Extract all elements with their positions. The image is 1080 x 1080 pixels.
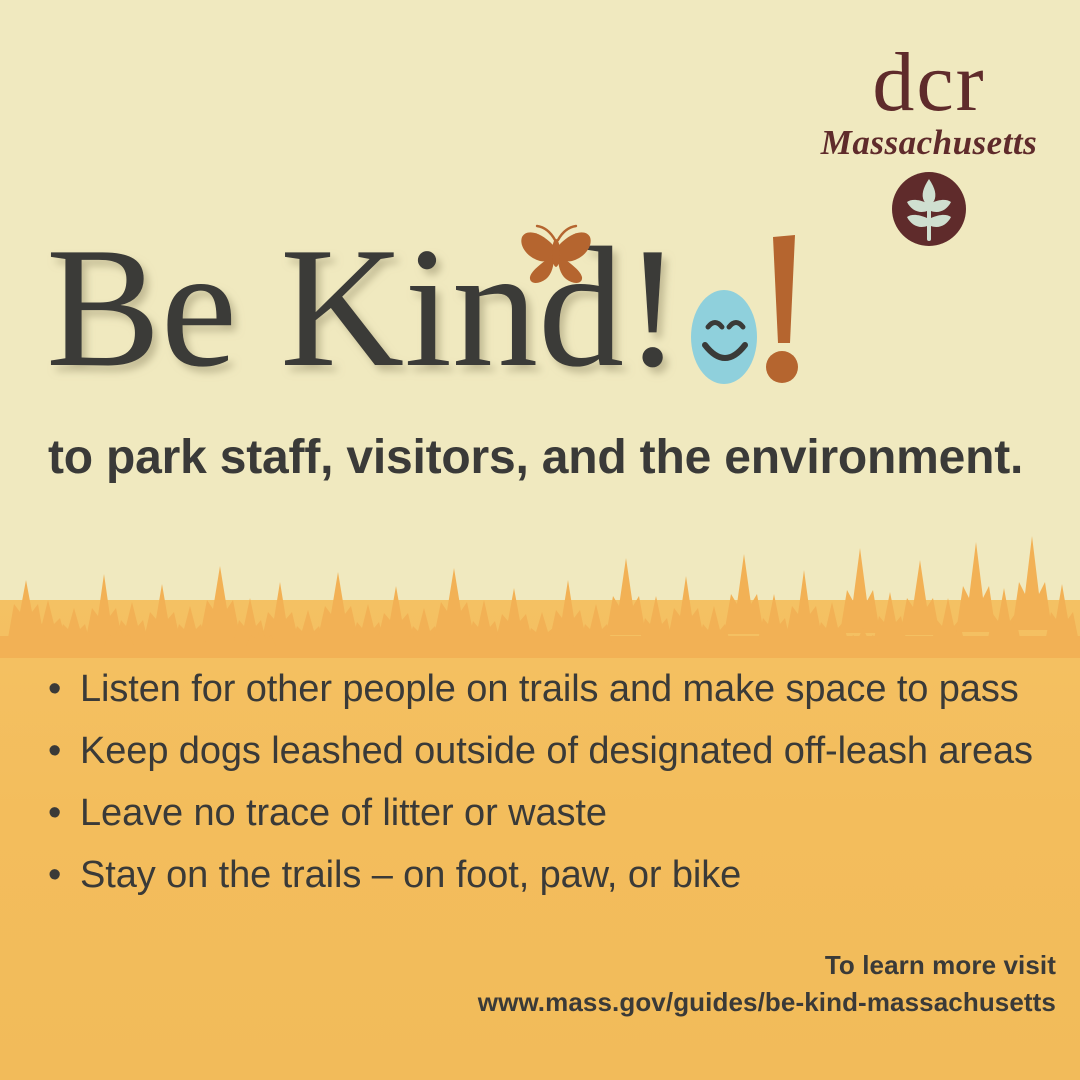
bullet-marker-icon: • (48, 732, 80, 770)
list-item-label: Leave no trace of litter or waste (80, 792, 1048, 835)
footer-prompt: To learn more visit (478, 950, 1056, 981)
subtitle: to park staff, visitors, and the environ… (48, 430, 1048, 485)
list-item: • Listen for other people on trails and … (48, 668, 1048, 730)
dcr-wordmark: dcr (814, 44, 1044, 121)
list-item-label: Listen for other people on trails and ma… (80, 668, 1048, 711)
bullet-marker-icon: • (48, 794, 80, 832)
footer-url[interactable]: www.mass.gov/guides/be-kind-massachusett… (478, 987, 1056, 1018)
footer: To learn more visit www.mass.gov/guides/… (478, 950, 1056, 1018)
list-item: • Leave no trace of litter or waste (48, 792, 1048, 854)
smiley-face-icon (691, 290, 757, 384)
list-item-label: Keep dogs leashed outside of designated … (80, 730, 1048, 773)
list-item-label: Stay on the trails – on foot, paw, or bi… (80, 854, 1048, 897)
list-item: • Keep dogs leashed outside of designate… (48, 730, 1048, 792)
guidelines-list: • Listen for other people on trails and … (48, 668, 1048, 916)
conifer-treeline-silhouette-icon (0, 508, 1080, 658)
poster-canvas: dcr Massachusetts (0, 0, 1080, 1080)
bullet-marker-icon: • (48, 856, 80, 894)
exclamation-accent (766, 235, 798, 383)
list-item: • Stay on the trails – on foot, paw, or … (48, 854, 1048, 916)
dcr-state-label: Massachusetts (814, 125, 1044, 160)
bullet-marker-icon: • (48, 670, 80, 708)
headline-group: Be Kind! (46, 215, 946, 405)
